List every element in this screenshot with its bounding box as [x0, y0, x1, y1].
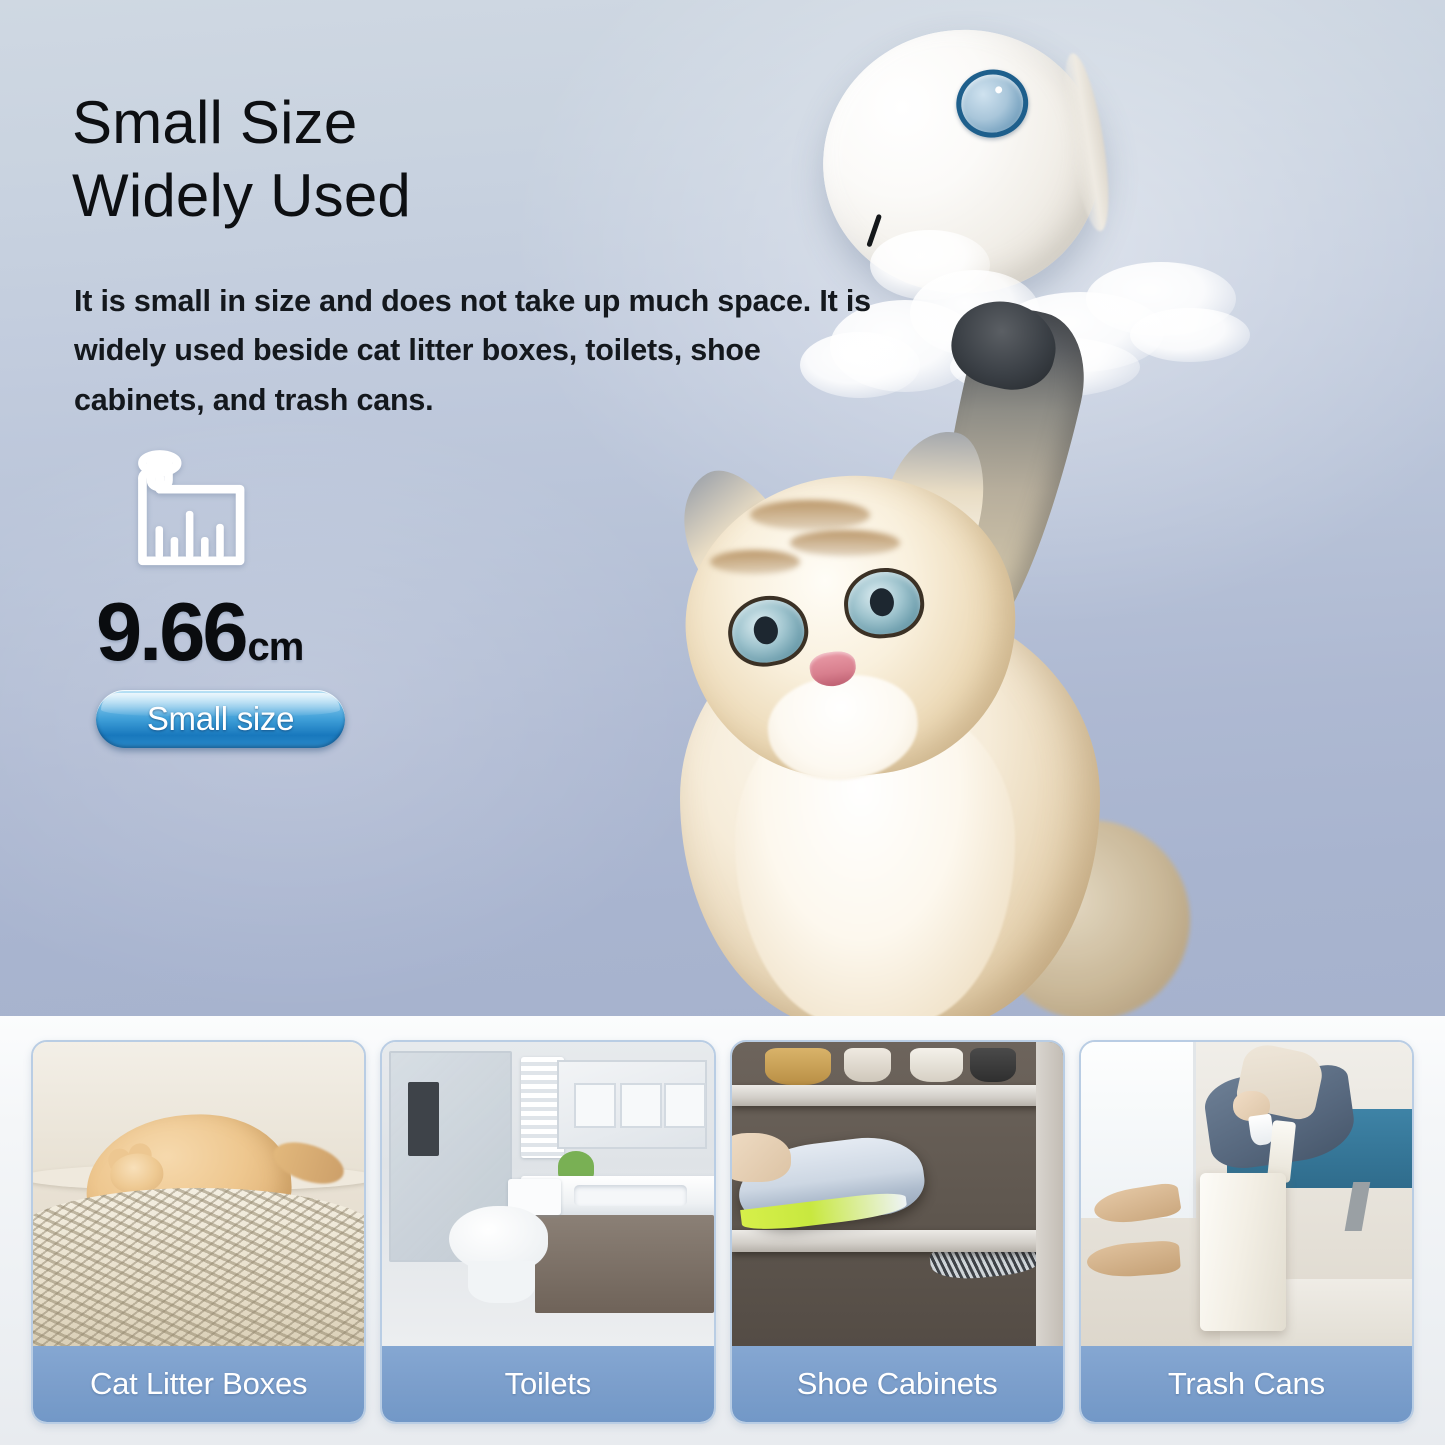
cabinet-shelf-middle — [732, 1230, 1040, 1251]
cabinet-side-panel — [1036, 1042, 1063, 1346]
trash-can — [1200, 1173, 1286, 1331]
usecase-card-trash-cans[interactable]: Trash Cans — [1079, 1040, 1414, 1424]
size-measurement: 9.66 cm — [96, 590, 416, 673]
heel-shoe — [844, 1048, 890, 1081]
product-device — [804, 10, 1120, 314]
small-size-badge[interactable]: Small size — [96, 690, 345, 748]
size-number: 9.66 — [96, 590, 246, 673]
mirror-panel — [664, 1083, 706, 1128]
usecase-photo-shoe-cabinets — [732, 1042, 1063, 1346]
heel-shoe — [910, 1048, 963, 1081]
mirror-panel — [574, 1083, 616, 1128]
small-size-badge-label: Small size — [147, 700, 294, 738]
usecase-strip: Cat Litter Boxes — [0, 1016, 1445, 1445]
measuring-tape-icon — [118, 448, 258, 576]
usecase-label-toilets: Toilets — [382, 1346, 713, 1422]
hero-section: Small Size Widely Used It is small in si… — [0, 0, 1445, 1016]
shoe-cabinet-scene — [732, 1042, 1063, 1346]
bathroom-mirror — [557, 1060, 707, 1149]
heel-shoe — [765, 1048, 831, 1084]
mirror-panel — [620, 1083, 662, 1128]
size-unit: cm — [248, 627, 304, 667]
hero-description: It is small in size and does not take up… — [74, 277, 874, 425]
usecase-card-shoe-cabinets[interactable]: Shoe Cabinets — [730, 1040, 1065, 1424]
usecase-label-cat-litter-boxes: Cat Litter Boxes — [33, 1346, 364, 1422]
toilet-base — [468, 1261, 534, 1304]
usecase-card-cat-litter-boxes[interactable]: Cat Litter Boxes — [31, 1040, 366, 1424]
sofa-leg — [1345, 1182, 1370, 1231]
person-shoe — [1086, 1239, 1181, 1279]
trash-can-scene — [1081, 1042, 1412, 1346]
heel-shoe — [970, 1048, 1016, 1081]
usecase-card-list: Cat Litter Boxes — [31, 1040, 1414, 1424]
sink-basin — [574, 1185, 687, 1206]
hand — [732, 1133, 792, 1182]
page-title: Small Size Widely Used — [72, 86, 411, 232]
usecase-photo-cat-litter-boxes — [33, 1042, 364, 1346]
pellet-litter — [33, 1188, 364, 1346]
usecase-label-shoe-cabinets: Shoe Cabinets — [732, 1346, 1063, 1422]
size-callout: 9.66 cm Small size — [96, 448, 416, 748]
kitten-tabby-marking — [790, 530, 900, 556]
kitten-tabby-marking — [710, 550, 800, 574]
kitten-tabby-marking — [750, 500, 870, 530]
cabinet-shelf-top — [732, 1085, 1040, 1106]
bathroom-scene — [382, 1042, 713, 1346]
vanity-cabinet — [535, 1215, 714, 1312]
usecase-photo-toilets — [382, 1042, 713, 1346]
usecase-card-toilets[interactable]: Toilets — [380, 1040, 715, 1424]
litter-box-scene — [33, 1042, 364, 1346]
usecase-label-trash-cans: Trash Cans — [1081, 1346, 1412, 1422]
shower-niche — [408, 1082, 439, 1156]
product-feature-page: Small Size Widely Used It is small in si… — [0, 0, 1445, 1445]
usecase-photo-trash-cans — [1081, 1042, 1412, 1346]
